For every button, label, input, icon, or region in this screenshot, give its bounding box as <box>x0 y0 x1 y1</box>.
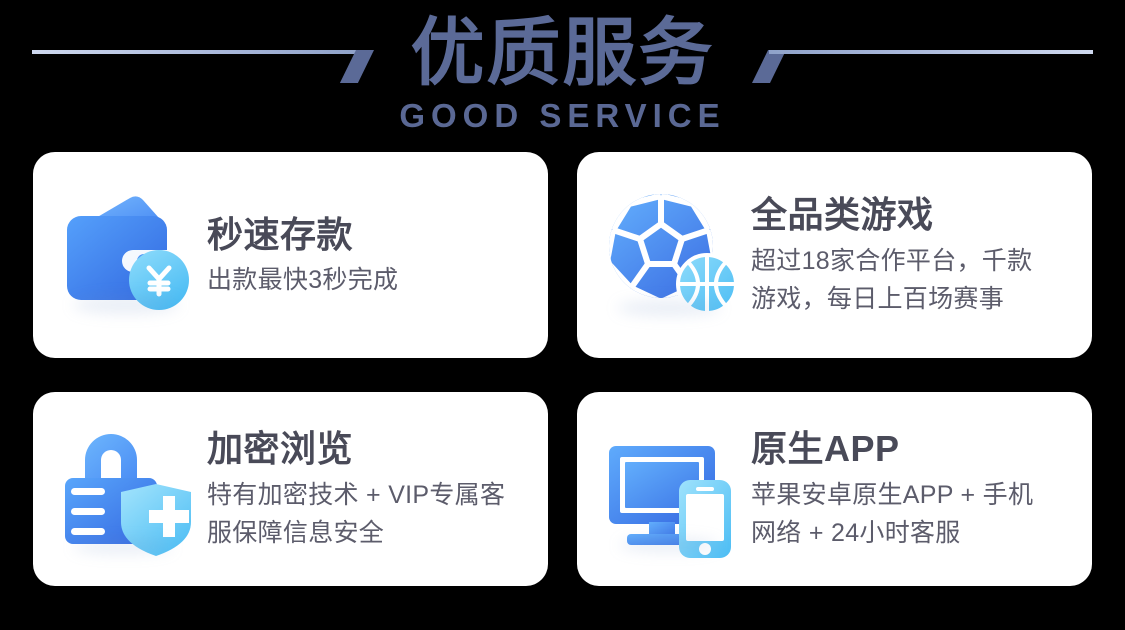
card-description: 超过18家合作平台，千款 游戏，每日上百场赛事 <box>751 242 1072 318</box>
card-description: 出款最快3秒完成 <box>207 262 528 298</box>
feature-card-native-app[interactable]: 原生APP 苹果安卓原生APP + 手机 网络 + 24小时客服 <box>577 392 1092 586</box>
card-text-block: 秒速存款 出款最快3秒完成 <box>201 213 528 298</box>
feature-card-grid: 秒速存款 出款最快3秒完成 <box>33 152 1092 586</box>
card-title: 全品类游戏 <box>751 193 1072 237</box>
lock-shield-icon-svg <box>59 418 201 560</box>
card-title: 加密浏览 <box>207 427 528 471</box>
card-text-block: 原生APP 苹果安卓原生APP + 手机 网络 + 24小时客服 <box>745 427 1072 552</box>
banner-header: 优质服务 GOOD SERVICE <box>0 0 1125 150</box>
feature-card-encrypted-browsing[interactable]: 加密浏览 特有加密技术 + VIP专属客 服保障信息安全 <box>33 392 548 586</box>
card-description: 苹果安卓原生APP + 手机 网络 + 24小时客服 <box>751 476 1072 552</box>
card-title: 原生APP <box>751 427 1072 471</box>
card-description-line: 苹果安卓原生APP + 手机 <box>751 476 1072 514</box>
promo-banner: 优质服务 GOOD SERVICE <box>0 0 1125 630</box>
card-title: 秒速存款 <box>207 213 528 257</box>
page-title: 优质服务 <box>0 12 1125 94</box>
card-description-line: 网络 + 24小时客服 <box>751 514 1072 552</box>
card-description-line: 出款最快3秒完成 <box>207 262 528 298</box>
card-description-line: 服保障信息安全 <box>207 514 528 552</box>
lock-shield-icon <box>59 418 201 560</box>
card-description: 特有加密技术 + VIP专属客 服保障信息安全 <box>207 476 528 552</box>
wallet-yen-icon <box>59 184 201 326</box>
card-text-block: 加密浏览 特有加密技术 + VIP专属客 服保障信息安全 <box>201 427 528 552</box>
monitor-phone-icon <box>603 418 745 560</box>
soccer-basketball-icon <box>603 184 745 326</box>
page-subtitle: GOOD SERVICE <box>0 98 1125 134</box>
card-text-block: 全品类游戏 超过18家合作平台，千款 游戏，每日上百场赛事 <box>745 193 1072 318</box>
card-description-line: 超过18家合作平台，千款 <box>751 242 1072 280</box>
card-description-line: 特有加密技术 + VIP专属客 <box>207 476 528 514</box>
feature-card-all-games[interactable]: 全品类游戏 超过18家合作平台，千款 游戏，每日上百场赛事 <box>577 152 1092 358</box>
card-description-line: 游戏，每日上百场赛事 <box>751 280 1072 318</box>
feature-card-instant-deposit[interactable]: 秒速存款 出款最快3秒完成 <box>33 152 548 358</box>
